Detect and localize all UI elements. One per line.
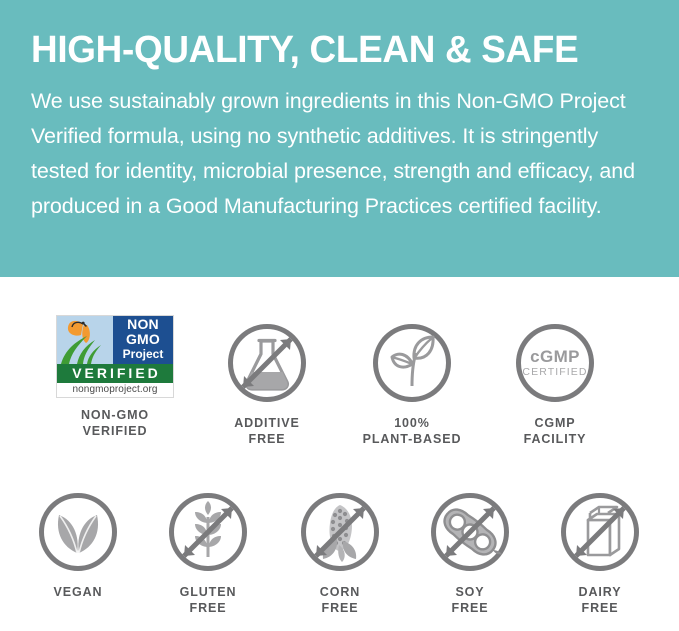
logo-text-non: NON [113, 317, 173, 332]
logo-text-verified: VERIFIED [57, 364, 173, 383]
badge-label: DAIRY FREE [535, 584, 665, 616]
badge-label: ADDITIVE FREE [202, 415, 332, 447]
badge-label: CGMP FACILITY [490, 415, 620, 447]
hero-banner: HIGH-QUALITY, CLEAN & SAFE We use sustai… [0, 0, 679, 277]
logo-text-url: nongmoproject.org [57, 383, 173, 397]
badge-label: 100% PLANT-BASED [347, 415, 477, 447]
cgmp-certified-seal-icon: cGMP CERTIFIED [490, 315, 620, 411]
badge-label: SOY FREE [405, 584, 535, 616]
corn-no-slash-icon [275, 484, 405, 580]
certification-badge-grid: NON GMO Project VERIFIED nongmoproject.o… [0, 277, 679, 631]
page-title: HIGH-QUALITY, CLEAN & SAFE [31, 28, 630, 72]
logo-text-project: Project [113, 347, 173, 361]
svg-text:cGMP: cGMP [530, 347, 580, 366]
flask-no-slash-icon [202, 315, 332, 411]
badge-label: NON-GMO VERIFIED [45, 407, 185, 439]
butterfly-grass-art [57, 316, 113, 364]
badge-additive-free: ADDITIVE FREE [202, 315, 332, 447]
badge-plant-based: 100% PLANT-BASED [347, 315, 477, 447]
badge-corn-free: CORN FREE [275, 484, 405, 616]
product-claims-infographic: HIGH-QUALITY, CLEAN & SAFE We use sustai… [0, 0, 679, 631]
badge-gluten-free: GLUTEN FREE [143, 484, 273, 616]
non-gmo-project-verified-logo-icon: NON GMO Project VERIFIED nongmoproject.o… [45, 315, 185, 401]
hero-description: We use sustainably grown ingredients in … [31, 84, 649, 224]
badge-cgmp-facility: cGMP CERTIFIED CGMP FACILITY [490, 315, 620, 447]
non-gmo-project-wordmark: NON GMO Project [113, 316, 173, 364]
two-leaves-icon [13, 484, 143, 580]
badge-label: GLUTEN FREE [143, 584, 273, 616]
wheat-no-slash-icon [143, 484, 273, 580]
badge-soy-free: SOY FREE [405, 484, 535, 616]
logo-text-gmo: GMO [113, 332, 173, 347]
milk-carton-no-slash-icon [535, 484, 665, 580]
svg-text:CERTIFIED: CERTIFIED [522, 366, 587, 378]
badge-dairy-free: DAIRY FREE [535, 484, 665, 616]
sprout-leaf-icon [347, 315, 477, 411]
badge-label: VEGAN [13, 584, 143, 600]
badge-label: CORN FREE [275, 584, 405, 616]
badge-non-gmo-verified: NON GMO Project VERIFIED nongmoproject.o… [45, 315, 185, 439]
badge-vegan: VEGAN [13, 484, 143, 600]
soybean-no-slash-icon [405, 484, 535, 580]
